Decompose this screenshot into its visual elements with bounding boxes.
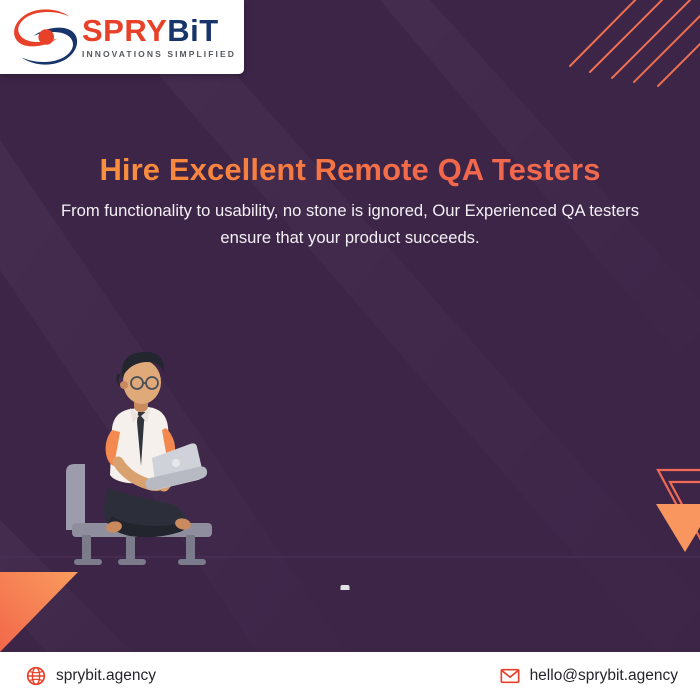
footer-bar: sprybit.agency hello@sprybit.agency bbox=[0, 652, 700, 700]
poster-canvas: SPRYBiT INNOVATIONS SIMPLIFIED Hire Exce… bbox=[0, 0, 700, 700]
globe-icon bbox=[26, 666, 46, 686]
brand-word-bit: BiT bbox=[167, 13, 218, 48]
page-title: Hire Excellent Remote QA Testers bbox=[0, 152, 700, 188]
gear-icon-gray bbox=[318, 585, 372, 590]
brand-word-spry: SPRY bbox=[82, 13, 167, 48]
brand-logo-text: SPRYBiT INNOVATIONS SIMPLIFIED bbox=[82, 15, 236, 59]
decoration-diagonal-lines bbox=[560, 0, 700, 114]
envelope-icon bbox=[500, 666, 520, 686]
footer-email[interactable]: hello@sprybit.agency bbox=[500, 666, 678, 686]
brand-logo-card[interactable]: SPRYBiT INNOVATIONS SIMPLIFIED bbox=[0, 0, 244, 74]
subtitle-line-1: From functionality to usability, no ston… bbox=[61, 201, 557, 220]
footer-website-text: sprybit.agency bbox=[56, 667, 156, 685]
person-with-laptop bbox=[104, 352, 207, 537]
swoosh-s-logo-icon bbox=[12, 8, 78, 66]
brand-tagline: INNOVATIONS SIMPLIFIED bbox=[82, 50, 236, 59]
page-subtitle: From functionality to usability, no ston… bbox=[50, 198, 650, 252]
hero-illustration bbox=[0, 280, 700, 590]
footer-email-text: hello@sprybit.agency bbox=[530, 667, 678, 685]
footer-website[interactable]: sprybit.agency bbox=[26, 666, 156, 686]
